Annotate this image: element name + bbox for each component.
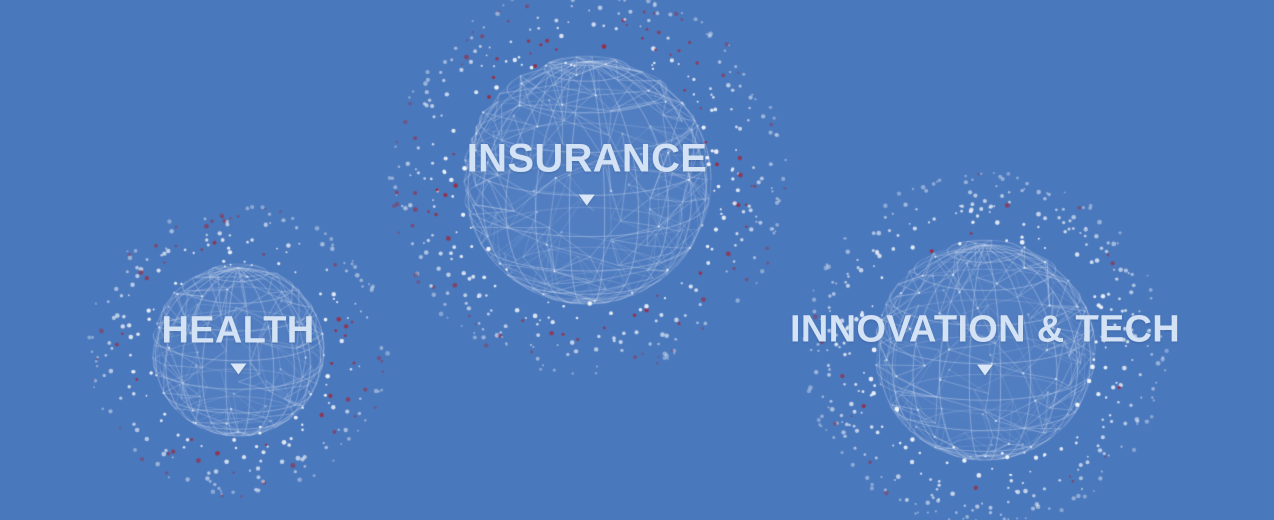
triangle-down-icon[interactable] [977,365,993,376]
category-node-innovation-tech[interactable]: INNOVATION & TECH [790,325,1180,376]
category-label-insurance[interactable]: INSURANCE [467,139,708,179]
category-label-health[interactable]: HEALTH [161,312,314,350]
triangle-down-icon[interactable] [230,364,246,375]
triangle-down-icon[interactable] [579,195,595,206]
category-node-insurance[interactable]: INSURANCE [467,155,708,206]
category-label-innovation-tech[interactable]: INNOVATION & TECH [790,311,1180,349]
category-selector-banner: HEALTHINSURANCEINNOVATION & TECH [0,0,1274,520]
wireframe-globes-canvas [0,0,1274,520]
category-node-health[interactable]: HEALTH [161,326,314,375]
